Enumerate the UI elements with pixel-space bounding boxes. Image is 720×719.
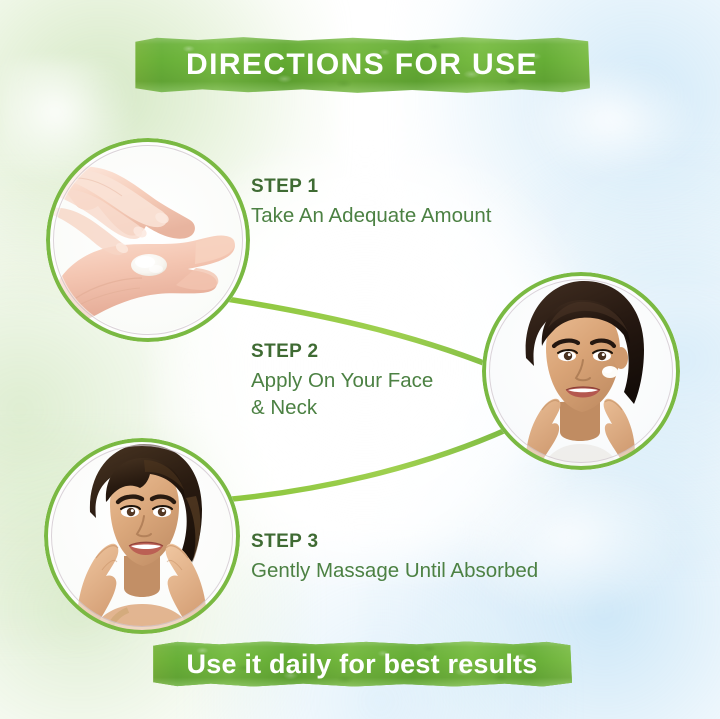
footer-banner-title: Use it daily for best results <box>187 649 538 680</box>
header-banner: DIRECTIONS FOR USE <box>134 36 590 94</box>
woman-applying-cream-to-face-photo <box>482 272 680 470</box>
header-banner-title: DIRECTIONS FOR USE <box>186 48 538 82</box>
footer-banner: Use it daily for best results <box>152 640 572 688</box>
directions-for-use-poster: DIRECTIONS FOR USE <box>0 0 720 719</box>
step-2-description: Apply On Your Face & Neck <box>251 367 433 421</box>
step-3-description: Gently Massage Until Absorbed <box>251 557 538 584</box>
step-1-image-circle <box>46 138 250 342</box>
hands-with-cream-photo <box>46 138 250 342</box>
step-2-label: STEP 2 <box>251 341 433 363</box>
step-1-label: STEP 1 <box>251 176 492 198</box>
step-1-text-block: STEP 1 Take An Adequate Amount <box>251 176 492 229</box>
woman-massaging-face-photo <box>44 438 240 634</box>
step-3-image-circle <box>44 438 240 634</box>
step-3-text-block: STEP 3 Gently Massage Until Absorbed <box>251 531 538 584</box>
step-3-label: STEP 3 <box>251 531 538 553</box>
step-1-description: Take An Adequate Amount <box>251 202 492 229</box>
step-2-image-circle <box>482 272 680 470</box>
step-2-text-block: STEP 2 Apply On Your Face & Neck <box>251 341 433 421</box>
connector-step2-to-step3 <box>222 425 517 500</box>
